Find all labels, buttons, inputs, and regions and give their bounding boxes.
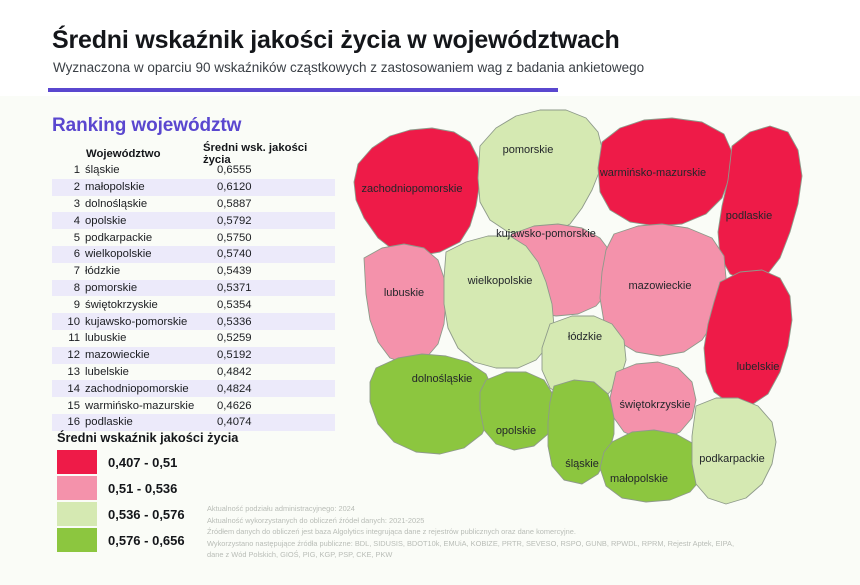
table-row: 3dolnośląskie0,5887 [52, 196, 335, 213]
map-label-łódzkie: łódzkie [568, 331, 602, 343]
legend-label: 0,51 - 0,536 [108, 481, 177, 496]
table-row: 7łódzkie0,5439 [52, 263, 335, 280]
row-region: lubuskie [85, 332, 203, 344]
map-region-lubuskie[interactable] [364, 244, 446, 364]
row-region: śląskie [85, 164, 203, 176]
table-row: 12mazowieckie0,5192 [52, 347, 335, 364]
map-region-pomorskie[interactable] [478, 110, 602, 236]
infographic-root: Średni wskaźnik jakości życia w wojewódz… [0, 0, 860, 585]
row-region: łódzkie [85, 265, 203, 277]
map-region-lubelskie[interactable] [704, 270, 792, 406]
table-row: 11lubuskie0,5259 [52, 330, 335, 347]
table-header-row: Województwo Średni wsk. jakości życia [52, 145, 335, 162]
map-label-warmińsko-mazurskie: warmińsko-mazurskie [599, 167, 706, 179]
row-region: wielkopolskie [85, 248, 203, 260]
row-value: 0,5354 [203, 299, 335, 311]
row-rank: 1 [52, 164, 85, 176]
row-value: 0,5336 [203, 316, 335, 328]
row-value: 0,4626 [203, 400, 335, 412]
table-row: 16podlaskie0,4074 [52, 414, 335, 431]
row-rank: 10 [52, 316, 85, 328]
legend-item: 0,51 - 0,536 [57, 475, 185, 501]
row-rank: 5 [52, 232, 85, 244]
map-label-podkarpackie: podkarpackie [699, 453, 764, 465]
map-label-podlaskie: podlaskie [726, 210, 772, 222]
legend-swatch [57, 528, 97, 552]
row-region: świętokrzyskie [85, 299, 203, 311]
page-subtitle: Wyznaczona w oparciu 90 wskaźników cząst… [53, 60, 644, 75]
map-region-dolnośląskie[interactable] [370, 354, 494, 454]
row-value: 0,5750 [203, 232, 335, 244]
row-value: 0,4074 [203, 416, 335, 428]
row-rank: 4 [52, 215, 85, 227]
row-rank: 6 [52, 248, 85, 260]
legend-swatch [57, 502, 97, 526]
footnote-line: Wykorzystano następujące źródła publiczn… [207, 538, 847, 550]
footnote-line: Źródłem danych do obliczeń jest baza Alg… [207, 526, 847, 538]
legend-swatch [57, 476, 97, 500]
row-region: warmińsko-mazurskie [85, 400, 203, 412]
legend-item: 0,576 - 0,656 [57, 527, 185, 553]
row-region: mazowieckie [85, 349, 203, 361]
page-title: Średni wskaźnik jakości życia w wojewódz… [52, 26, 620, 55]
table-row: 2małopolskie0,6120 [52, 179, 335, 196]
row-rank: 2 [52, 181, 85, 193]
map-label-świętokrzyskie: świętokrzyskie [620, 399, 691, 411]
row-value: 0,4824 [203, 383, 335, 395]
legend-item: 0,536 - 0,576 [57, 501, 185, 527]
row-rank: 7 [52, 265, 85, 277]
row-value: 0,5792 [203, 215, 335, 227]
table-row: 4opolskie0,5792 [52, 212, 335, 229]
map-label-kujawsko-pomorskie: kujawsko-pomorskie [496, 228, 596, 240]
table-row: 8pomorskie0,5371 [52, 280, 335, 297]
row-region: zachodniopomorskie [85, 383, 203, 395]
ranking-table: Województwo Średni wsk. jakości życia 1ś… [52, 145, 335, 431]
row-value: 0,5192 [203, 349, 335, 361]
map-label-pomorskie: pomorskie [503, 144, 554, 156]
map-region-podkarpackie[interactable] [692, 398, 776, 504]
row-region: kujawsko-pomorskie [85, 316, 203, 328]
row-rank: 8 [52, 282, 85, 294]
legend-label: 0,576 - 0,656 [108, 533, 185, 548]
map-label-opolskie: opolskie [496, 425, 536, 437]
row-rank: 14 [52, 383, 85, 395]
table-row: 10kujawsko-pomorskie0,5336 [52, 313, 335, 330]
table-row: 6wielkopolskie0,5740 [52, 246, 335, 263]
row-rank: 12 [52, 349, 85, 361]
row-region: lubelskie [85, 366, 203, 378]
row-value: 0,6555 [203, 164, 335, 176]
row-value: 0,5887 [203, 198, 335, 210]
legend-title: Średni wskaźnik jakości życia [57, 430, 238, 445]
row-region: podlaskie [85, 416, 203, 428]
map-region-opolskie[interactable] [480, 372, 554, 450]
row-value: 0,4842 [203, 366, 335, 378]
table-row: 14zachodniopomorskie0,4824 [52, 380, 335, 397]
row-region: dolnośląskie [85, 198, 203, 210]
row-rank: 11 [52, 332, 85, 344]
table-row: 5podkarpackie0,5750 [52, 229, 335, 246]
map-label-małopolskie: małopolskie [610, 473, 668, 485]
poland-choropleth-map: zachodniopomorskiepomorskiewarmińsko-maz… [320, 86, 860, 526]
row-value: 0,5740 [203, 248, 335, 260]
legend-label: 0,536 - 0,576 [108, 507, 185, 522]
table-row: 15warmińsko-mazurskie0,4626 [52, 397, 335, 414]
col-value: Średni wsk. jakości życia [203, 142, 335, 166]
row-rank: 15 [52, 400, 85, 412]
map-label-śląskie: śląskie [565, 458, 599, 470]
row-region: opolskie [85, 215, 203, 227]
legend-label: 0,407 - 0,51 [108, 455, 177, 470]
col-region: Województwo [85, 148, 203, 160]
map-label-lubuskie: lubuskie [384, 287, 424, 299]
table-row: 13lubelskie0,4842 [52, 364, 335, 381]
row-value: 0,5371 [203, 282, 335, 294]
map-label-dolnośląskie: dolnośląskie [412, 373, 473, 385]
row-rank: 3 [52, 198, 85, 210]
map-label-mazowieckie: mazowieckie [629, 280, 692, 292]
map-label-zachodniopomorskie: zachodniopomorskie [362, 183, 463, 195]
map-label-lubelskie: lubelskie [737, 361, 780, 373]
row-region: małopolskie [85, 181, 203, 193]
legend: 0,407 - 0,510,51 - 0,5360,536 - 0,5760,5… [57, 449, 185, 553]
row-rank: 16 [52, 416, 85, 428]
row-region: pomorskie [85, 282, 203, 294]
map-svg: zachodniopomorskiepomorskiewarmińsko-maz… [320, 86, 860, 526]
ranking-heading: Ranking województw [52, 115, 241, 137]
row-value: 0,6120 [203, 181, 335, 193]
row-region: podkarpackie [85, 232, 203, 244]
row-value: 0,5439 [203, 265, 335, 277]
map-region-małopolskie[interactable] [600, 430, 704, 502]
map-regions [354, 110, 802, 504]
row-rank: 9 [52, 299, 85, 311]
row-value: 0,5259 [203, 332, 335, 344]
legend-swatch [57, 450, 97, 474]
table-row: 9świętokrzyskie0,5354 [52, 296, 335, 313]
header: Średni wskaźnik jakości życia w wojewódz… [0, 0, 860, 96]
row-rank: 13 [52, 366, 85, 378]
map-label-wielkopolskie: wielkopolskie [467, 275, 533, 287]
table-row: 1śląskie0,6555 [52, 162, 335, 179]
legend-item: 0,407 - 0,51 [57, 449, 185, 475]
footnote-line: dane z Wód Polskich, GIOŚ, PIG, KGP, PSP… [207, 549, 847, 561]
